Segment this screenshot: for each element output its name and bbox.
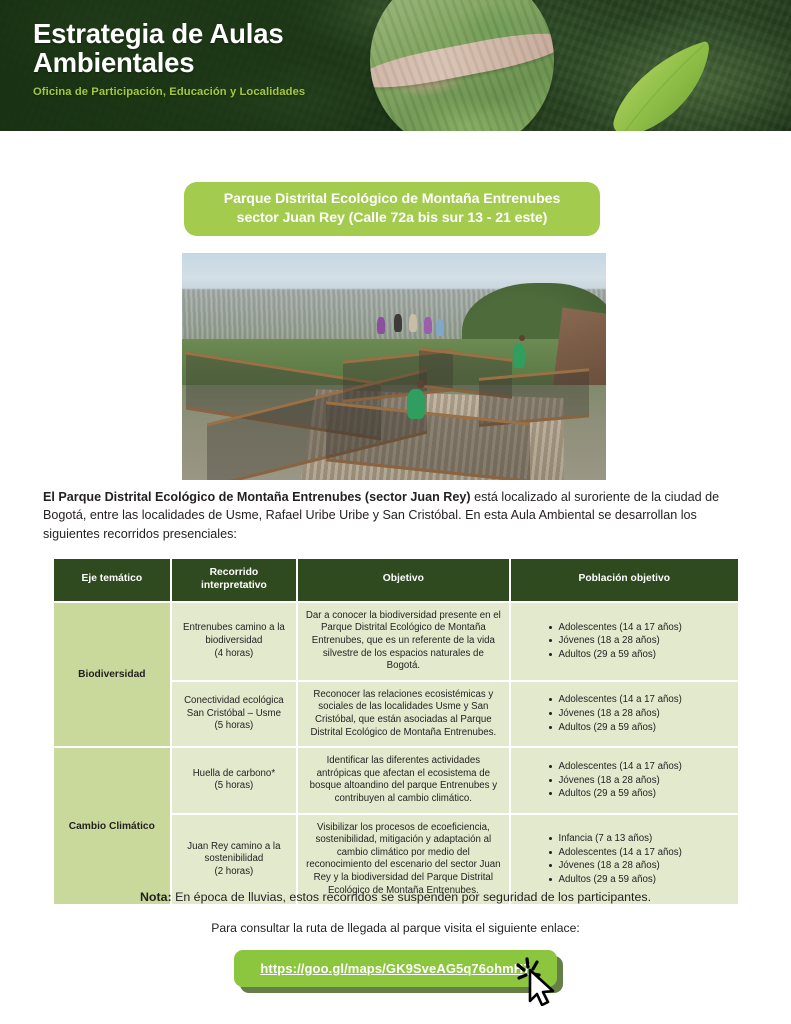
- nota-line: Nota: En época de lluvias, estos recorri…: [0, 890, 791, 904]
- list-item: Jóvenes (18 a 28 años): [549, 707, 731, 721]
- photo-visitor: [407, 389, 425, 419]
- intro-bold-lead: El Parque Distrital Ecológico de Montaña…: [43, 490, 471, 504]
- poblacion-list: Adolescentes (14 a 17 años) Jóvenes (18 …: [537, 621, 731, 662]
- cell-eje-tematico: Cambio Climático: [54, 748, 170, 904]
- poblacion-list: Adolescentes (14 a 17 años) Jóvenes (18 …: [537, 693, 731, 734]
- poblacion-list: Adolescentes (14 a 17 años) Jóvenes (18 …: [537, 760, 731, 801]
- link-shadow: https://goo.gl/maps/GK9SveAG5q76ohmH7: [234, 950, 556, 987]
- link-button-wrapper: https://goo.gl/maps/GK9SveAG5q76ohmH7: [0, 950, 791, 987]
- poblacion-list: Infancia (7 a 13 años) Adolescentes (14 …: [537, 832, 731, 887]
- list-item: Adultos (29 a 59 años): [549, 648, 731, 662]
- photo-visitor: [513, 344, 525, 368]
- list-item: Adultos (29 a 59 años): [549, 721, 731, 735]
- photo-visitor-head: [519, 335, 525, 341]
- cell-objetivo: Identificar las diferentes actividades a…: [298, 748, 508, 812]
- cell-eje-tematico: Biodiversidad: [54, 603, 170, 746]
- table-header-row: Eje temático Recorrido interpretativo Ob…: [54, 559, 738, 601]
- park-name-banner: Parque Distrital Ecológico de Montaña En…: [184, 182, 600, 236]
- map-link-button[interactable]: https://goo.gl/maps/GK9SveAG5q76ohmH7: [234, 950, 556, 987]
- poster-page: Estrategia de Aulas Ambientales Oficina …: [0, 0, 791, 1024]
- photo-visitor: [394, 314, 402, 332]
- list-item: Jóvenes (18 a 28 años): [549, 634, 731, 648]
- list-item: Infancia (7 a 13 años): [549, 832, 731, 846]
- consulta-line: Para consultar la ruta de llegada al par…: [0, 921, 791, 935]
- column-header-eje-tematico: Eje temático: [54, 559, 170, 601]
- cell-objetivo: Dar a conocer la biodiversidad presente …: [298, 603, 508, 680]
- park-name-text: Parque Distrital Ecológico de Montaña En…: [224, 190, 561, 227]
- list-item: Jóvenes (18 a 28 años): [549, 859, 731, 873]
- cell-recorrido: Conectividad ecológica San Cristóbal – U…: [172, 682, 297, 746]
- nota-label: Nota:: [140, 890, 172, 904]
- page-title: Estrategia de Aulas Ambientales: [33, 19, 305, 77]
- intro-paragraph: El Parque Distrital Ecológico de Montaña…: [43, 488, 751, 543]
- list-item: Adolescentes (14 a 17 años): [549, 693, 731, 707]
- photo-visitor: [377, 317, 385, 334]
- header-text-block: Estrategia de Aulas Ambientales Oficina …: [33, 19, 305, 98]
- list-item: Adultos (29 a 59 años): [549, 873, 731, 887]
- list-item: Adultos (29 a 59 años): [549, 787, 731, 801]
- cell-recorrido: Entrenubes camino a la biodiversidad (4 …: [172, 603, 297, 680]
- nota-text: En época de lluvias, estos recorridos se…: [172, 890, 651, 904]
- cell-poblacion: Adolescentes (14 a 17 años) Jóvenes (18 …: [511, 682, 738, 746]
- page-subtitle: Oficina de Participación, Educación y Lo…: [33, 86, 305, 98]
- circular-photo-inset: [370, 0, 554, 131]
- cell-recorrido: Huella de carbono* (5 horas): [172, 748, 297, 812]
- table-row: Biodiversidad Entrenubes camino a la bio…: [54, 603, 738, 680]
- column-header-recorrido: Recorrido interpretativo: [172, 559, 297, 601]
- cell-poblacion: Adolescentes (14 a 17 años) Jóvenes (18 …: [511, 603, 738, 680]
- park-photo: [182, 253, 606, 480]
- photo-visitor: [436, 319, 444, 336]
- list-item: Jóvenes (18 a 28 años): [549, 774, 731, 788]
- list-item: Adolescentes (14 a 17 años): [549, 846, 731, 860]
- table-row: Cambio Climático Huella de carbono* (5 h…: [54, 748, 738, 812]
- recorridos-table: Eje temático Recorrido interpretativo Ob…: [52, 557, 740, 906]
- list-item: Adolescentes (14 a 17 años): [549, 760, 731, 774]
- column-header-poblacion: Población objetivo: [511, 559, 738, 601]
- list-item: Adolescentes (14 a 17 años): [549, 621, 731, 635]
- column-header-objetivo: Objetivo: [298, 559, 508, 601]
- cell-poblacion: Adolescentes (14 a 17 años) Jóvenes (18 …: [511, 748, 738, 812]
- photo-visitor: [409, 314, 417, 332]
- photo-visitor: [424, 317, 432, 334]
- page-header: Estrategia de Aulas Ambientales Oficina …: [0, 0, 791, 131]
- cell-objetivo: Reconocer las relaciones ecosistémicas y…: [298, 682, 508, 746]
